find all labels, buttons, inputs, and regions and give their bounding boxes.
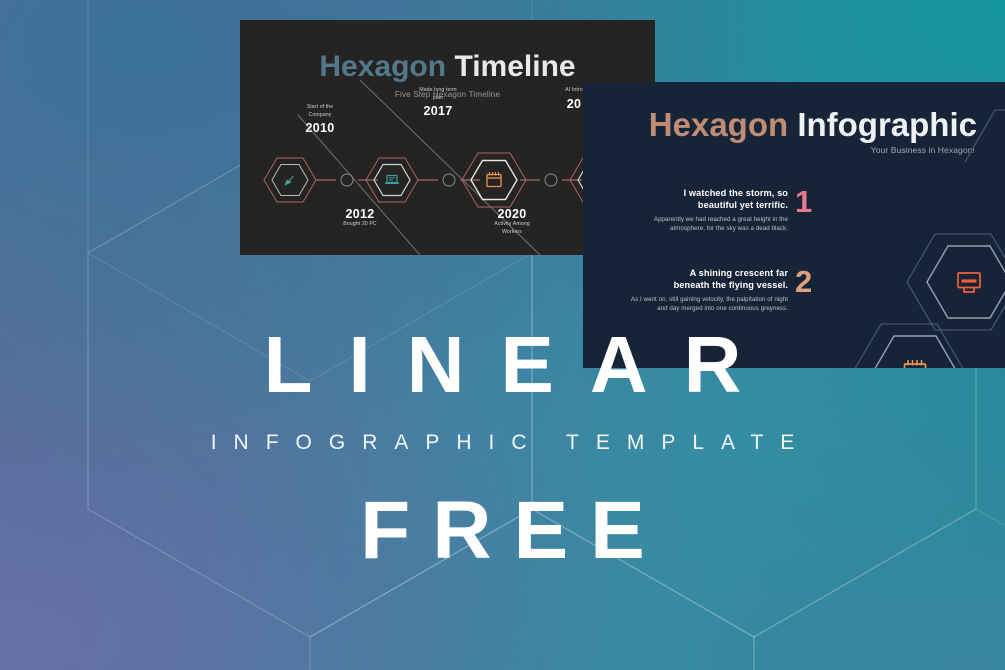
slide1-step-1-year: 2010 xyxy=(260,121,380,135)
slide1-step-3-label: Made long termplan 2017 xyxy=(378,87,498,118)
slide1-step-3-year: 2017 xyxy=(378,104,498,118)
slide1-title-accent: Hexagon xyxy=(319,50,446,83)
slide1-step-4-caption: Activity AmongWorkers xyxy=(452,221,572,236)
slide1-title-rest: Timeline xyxy=(454,50,575,83)
slide1-step-1-label: Start of theCompany 2010 xyxy=(260,104,380,135)
slide1-step-1-caption: Start of theCompany xyxy=(260,104,380,119)
slide2-icon-monitor xyxy=(958,273,980,292)
hero-title: LINEAR xyxy=(0,325,1005,405)
slide2-item-1-number: 1 xyxy=(795,186,812,217)
slide2-item-1: I watched the storm, sobeautiful yet ter… xyxy=(623,188,788,234)
slide2-item-2-body: As I went on, still gaining velocity, th… xyxy=(623,296,788,314)
hero-tagline: FREE xyxy=(0,490,1005,572)
slide1-icon-laptop xyxy=(385,176,399,185)
slide1-step-2-caption: Bought 20 PC xyxy=(300,221,420,229)
slide2-item-1-heading: I watched the storm, sobeautiful yet ter… xyxy=(623,188,788,211)
slide1-icon-calendar xyxy=(487,172,501,187)
slide1-title: Hexagon Timeline xyxy=(240,52,655,82)
slide2-title-accent: Hexagon xyxy=(649,106,788,143)
presentation-preview: Hexagon Timeline Five Step Hexagon Timel… xyxy=(0,0,1005,670)
hero-subtitle: INFOGRAPHIC TEMPLATE xyxy=(0,432,1005,453)
slide2-item-2-number: 2 xyxy=(795,266,812,297)
slide2-item-2: A shining crescent farbeneath the flying… xyxy=(623,268,788,314)
slide1-icon-rocket xyxy=(286,177,294,185)
slide2-item-2-heading: A shining crescent farbeneath the flying… xyxy=(623,268,788,291)
slide1-step-3-caption: Made long termplan xyxy=(378,87,498,102)
slide2-item-1-body: Apparently we had reached a great height… xyxy=(623,216,788,234)
